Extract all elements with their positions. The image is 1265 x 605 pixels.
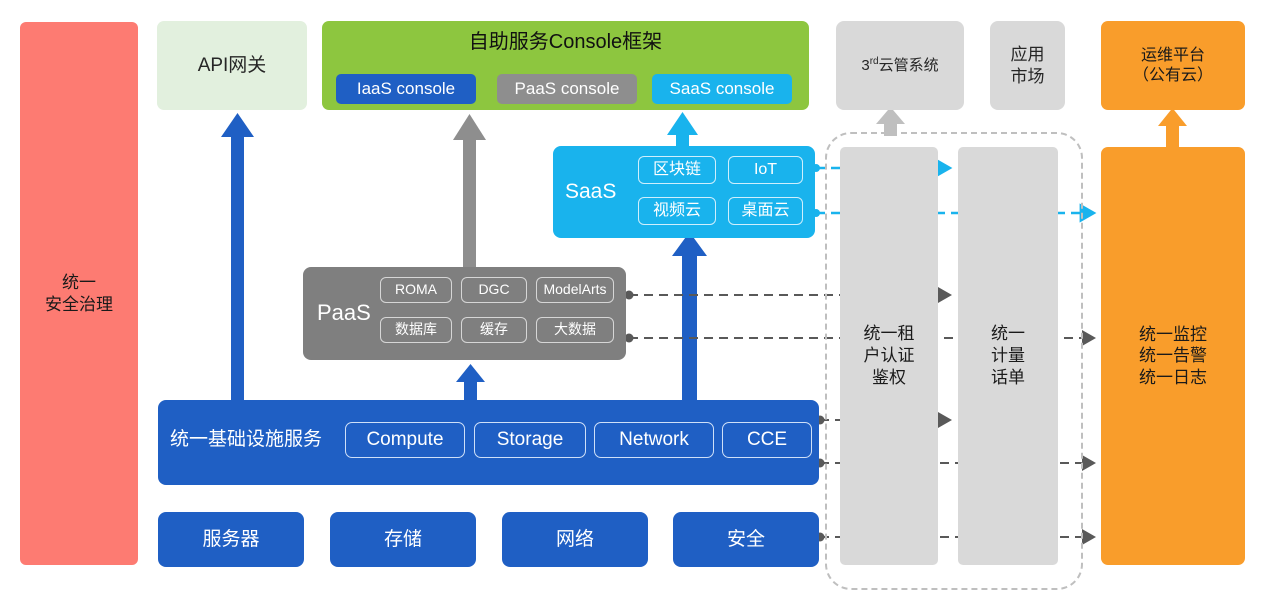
paas-label: PaaS: [317, 299, 371, 327]
saas-chip-iot[interactable]: IoT: [728, 156, 803, 184]
ops-platform-main-box[interactable]: 统一监控 统一告警 统一日志: [1101, 147, 1245, 565]
paas-panel[interactable]: PaaS ROMA DGC ModelArts 数据库 缓存 大数据: [303, 267, 626, 360]
console-framework-title: 自助服务Console框架: [322, 30, 809, 55]
saas-chip-video-cloud[interactable]: 视频云: [638, 197, 716, 225]
shared-service-tenant-auth-column[interactable]: 统一租 户认证 鉴权: [840, 147, 938, 565]
arrow-infra-to-paas: [456, 364, 485, 400]
saas-panel[interactable]: SaaS 区块链 IoT 视频云 桌面云: [553, 146, 815, 238]
arrow-infra-to-api-gateway: [221, 113, 254, 400]
paas-chip-roma[interactable]: ROMA: [380, 277, 452, 303]
third-cloud-prefix: 3: [861, 57, 869, 74]
third-cloud-rest: 云管系统: [879, 57, 939, 74]
ops-platform-header-box[interactable]: 运维平台 （公有云）: [1101, 21, 1245, 110]
infrastructure-label: 统一基础设施服务: [170, 428, 322, 452]
arrow-ops-main-to-ops-top: [1158, 108, 1187, 148]
infrastructure-band[interactable]: 统一基础设施服务 Compute Storage Network CCE: [158, 400, 819, 485]
paas-chip-cache[interactable]: 缓存: [461, 317, 527, 343]
paas-chip-database[interactable]: 数据库: [380, 317, 452, 343]
paas-chip-bigdata[interactable]: 大数据: [536, 317, 614, 343]
infra-chip-storage[interactable]: Storage: [474, 422, 586, 458]
third-cloud-superscript: rd: [870, 56, 879, 67]
security-governance-bar[interactable]: 统一 安全治理: [20, 22, 138, 565]
infra-chip-cce[interactable]: CCE: [722, 422, 812, 458]
saas-label: SaaS: [565, 179, 616, 205]
arrow-infra-to-saas: [672, 232, 707, 400]
paas-chip-modelarts[interactable]: ModelArts: [536, 277, 614, 303]
paas-chip-dgc[interactable]: DGC: [461, 277, 527, 303]
hardware-box-storage[interactable]: 存储: [330, 512, 476, 567]
third-party-cloud-mgmt-box[interactable]: 3rd云管系统: [836, 21, 964, 110]
iaas-console-pill[interactable]: IaaS console: [336, 74, 476, 104]
app-market-box[interactable]: 应用 市场: [990, 21, 1065, 110]
api-gateway-box[interactable]: API网关: [157, 21, 307, 110]
saas-console-pill[interactable]: SaaS console: [652, 74, 792, 104]
saas-chip-blockchain[interactable]: 区块链: [638, 156, 716, 184]
third-cloud-label: 3rd云管系统: [861, 56, 938, 76]
hardware-box-network[interactable]: 网络: [502, 512, 648, 567]
hardware-box-server[interactable]: 服务器: [158, 512, 304, 567]
hardware-box-security[interactable]: 安全: [673, 512, 819, 567]
arrow-saas-to-console: [667, 112, 698, 146]
shared-service-metering-column[interactable]: 统一 计量 话单: [958, 147, 1058, 565]
paas-console-pill[interactable]: PaaS console: [497, 74, 637, 104]
infra-chip-network[interactable]: Network: [594, 422, 714, 458]
saas-chip-desktop-cloud[interactable]: 桌面云: [728, 197, 803, 225]
console-framework-panel[interactable]: 自助服务Console框架 IaaS console PaaS console …: [322, 21, 809, 110]
infra-chip-compute[interactable]: Compute: [345, 422, 465, 458]
architecture-diagram: 统一 安全治理 API网关 自助服务Console框架 IaaS console…: [0, 0, 1265, 605]
arrow-paas-to-console: [453, 114, 486, 267]
